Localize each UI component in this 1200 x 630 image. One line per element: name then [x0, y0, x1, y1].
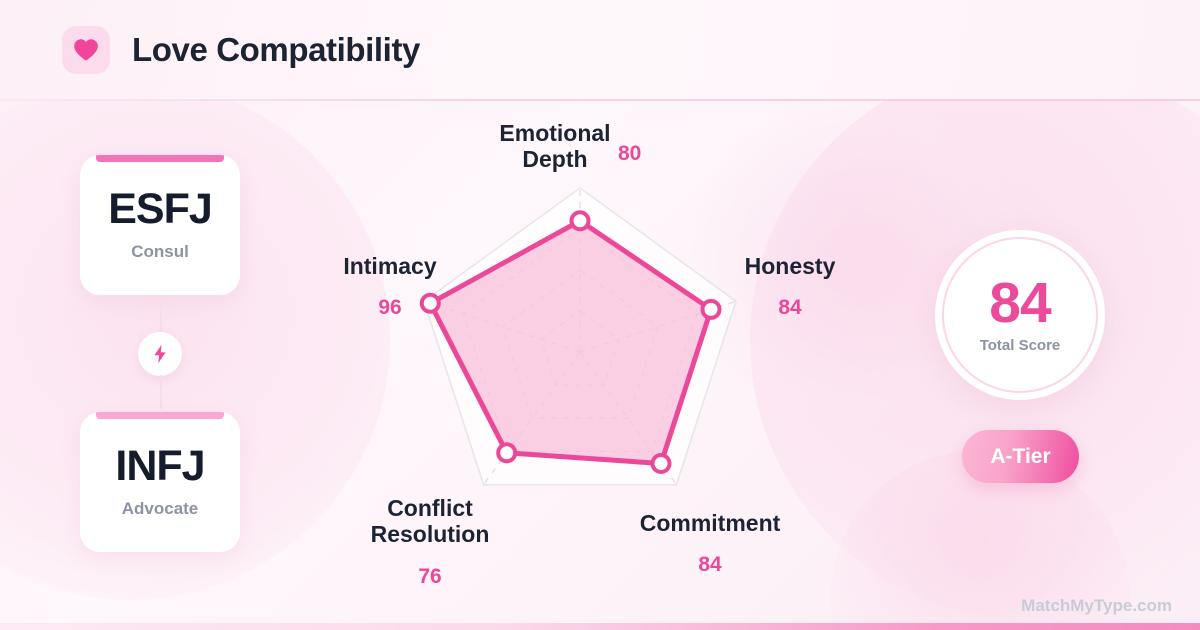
type-code: INFJ	[115, 445, 204, 488]
axis-label-honesty: Honesty	[690, 253, 890, 279]
connector-line-bottom	[160, 375, 162, 409]
bottom-accent-bar	[0, 623, 1200, 630]
heart-icon	[62, 26, 110, 74]
personality-card-first[interactable]: ESFJ Consul	[80, 155, 240, 295]
type-code: ESFJ	[108, 188, 212, 231]
tier-badge: A-Tier	[962, 430, 1079, 483]
axis-label-conflict-resolution: Conflict Resolution	[320, 495, 540, 547]
page-title: Love Compatibility	[132, 31, 420, 69]
total-score-value: 84	[989, 276, 1050, 330]
axis-value-emotional-depth: 80	[618, 142, 678, 166]
type-name: Consul	[131, 242, 189, 262]
infographic-canvas: Love Compatibility ESFJ Consul INFJ Advo…	[0, 0, 1200, 630]
site-watermark: MatchMyType.com	[1021, 596, 1172, 616]
header-divider	[0, 99, 1200, 101]
connector-line-top	[160, 300, 162, 334]
axis-label-commitment: Commitment	[595, 510, 825, 536]
total-score-badge: 84 Total Score	[935, 230, 1105, 400]
page-header: Love Compatibility	[0, 0, 1200, 100]
axis-value-commitment: 84	[595, 553, 825, 577]
total-score-caption: Total Score	[980, 337, 1061, 354]
axis-label-intimacy: Intimacy	[290, 253, 490, 279]
axis-value-honesty: 84	[690, 296, 890, 320]
lightning-bolt-icon	[138, 332, 182, 376]
personality-card-second[interactable]: INFJ Advocate	[80, 412, 240, 552]
axis-value-intimacy: 96	[290, 296, 490, 320]
type-name: Advocate	[122, 499, 199, 519]
axis-value-conflict-resolution: 76	[320, 565, 540, 589]
card-accent-bar	[96, 412, 224, 419]
radar-chart: Emotional Depth 80 Honesty 84 Intimacy 9…	[300, 110, 870, 610]
card-accent-bar	[96, 155, 224, 162]
